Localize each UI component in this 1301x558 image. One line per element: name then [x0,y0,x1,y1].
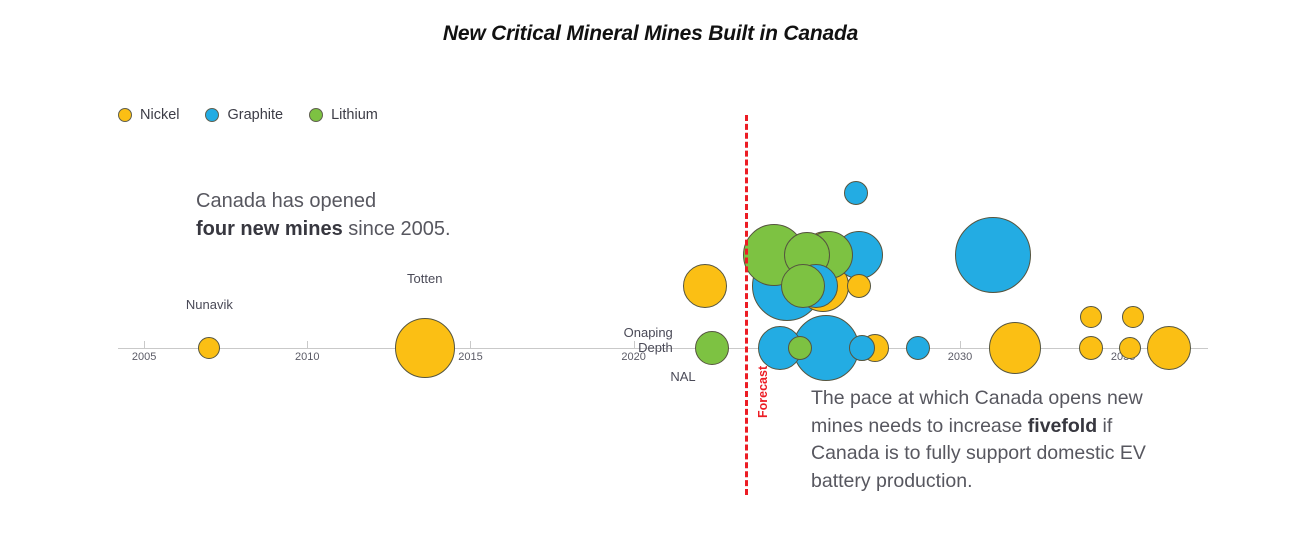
x-tick-label: 2010 [295,351,319,363]
legend-item-graphite[interactable]: Graphite [205,107,283,123]
bubble-graphite[interactable] [849,335,875,361]
x-tick-label: 2005 [132,351,156,363]
bubble-nickel[interactable] [683,264,727,308]
bubble-lithium[interactable] [781,264,825,308]
legend-label-lithium: Lithium [331,107,378,123]
point-label: Nunavik [186,298,233,313]
bubble-nickel[interactable] [1119,337,1141,359]
annotation-left-line1: Canada has opened [196,190,376,212]
bubble-nickel[interactable] [1147,326,1191,370]
x-tick-mark [960,341,961,349]
x-tick-label: 2015 [458,351,482,363]
chart-legend: Nickel Graphite Lithium [118,107,378,123]
bubble-nickel[interactable] [1122,306,1144,328]
x-tick-mark [470,341,471,349]
x-tick-mark [307,341,308,349]
bubble-lithium[interactable] [695,331,729,365]
graphite-swatch-icon [205,108,219,122]
lithium-swatch-icon [309,108,323,122]
annotation-left-tail: since 2005. [343,218,451,240]
bubble-nickel[interactable] [847,274,871,298]
forecast-label: Forecast [756,366,770,418]
bubble-graphite[interactable] [906,336,930,360]
annotation-historical: Canada has opened four new mines since 2… [196,188,451,243]
x-tick-mark [144,341,145,349]
bubble-nickel[interactable] [395,318,455,378]
bubble-nickel[interactable] [198,337,220,359]
annotation-forecast: The pace at which Canada opens new mines… [811,385,1171,496]
bubble-graphite[interactable] [955,217,1031,293]
nickel-swatch-icon [118,108,132,122]
point-label: NAL [600,370,696,385]
point-label: Totten [407,272,442,287]
point-label: Onaping Depth [577,326,673,355]
page-title: New Critical Mineral Mines Built in Cana… [0,22,1301,46]
bubble-lithium[interactable] [788,336,812,360]
bubble-nickel[interactable] [989,322,1041,374]
annotation-right-bold: fivefold [1028,415,1097,437]
bubble-graphite[interactable] [844,181,868,205]
annotation-left-bold: four new mines [196,218,343,240]
bubble-timeline-chart: New Critical Mineral Mines Built in Cana… [0,0,1301,558]
legend-item-nickel[interactable]: Nickel [118,107,179,123]
legend-item-lithium[interactable]: Lithium [309,107,378,123]
legend-label-nickel: Nickel [140,107,179,123]
bubble-nickel[interactable] [1079,336,1103,360]
forecast-divider-line [745,115,748,495]
legend-label-graphite: Graphite [227,107,283,123]
x-tick-label: 2030 [948,351,972,363]
bubble-nickel[interactable] [1080,306,1102,328]
